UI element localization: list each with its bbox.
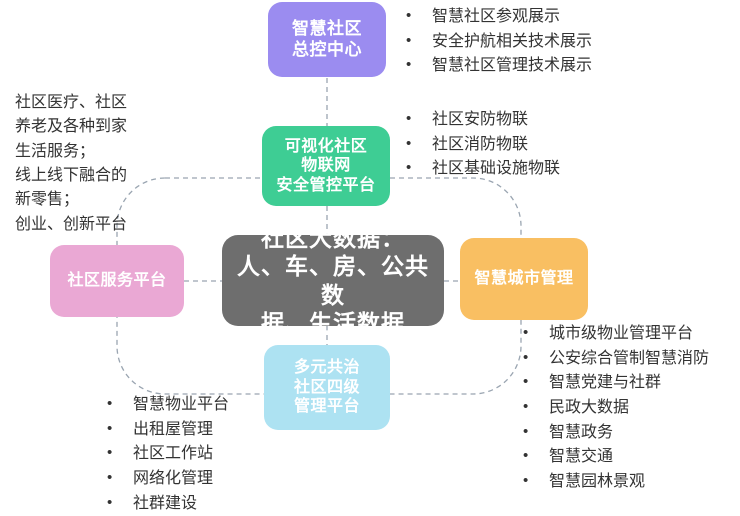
bullet-item: 智慧党建与社群	[521, 371, 709, 396]
service-platform-description: 社区医疗、社区 养老及各种到家 生活服务； 线上线下融合的 新零售； 创业、创新…	[15, 91, 127, 237]
bullet-item: 民政大数据	[521, 396, 709, 421]
bullet-list-city: 城市级物业管理平台公安综合管制智慧消防智慧党建与社群民政大数据智慧政务智慧交通智…	[521, 322, 709, 494]
bullet-item: 智慧政务	[521, 421, 709, 446]
bullet-item: 社群建设	[105, 492, 229, 516]
bullet-item: 智慧社区参观展示	[404, 5, 592, 30]
node-smart-community-control-center[interactable]: 智慧社区 总控中心	[268, 2, 386, 77]
bullet-item: 智慧园林景观	[521, 470, 709, 495]
bullet-item: 智慧交通	[521, 445, 709, 470]
bullet-item: 社区工作站	[105, 442, 229, 467]
bullet-list-property-items: 智慧物业平台出租屋管理社区工作站网络化管理社群建设	[105, 393, 229, 516]
bullet-item: 公安综合管制智慧消防	[521, 347, 709, 372]
bullet-list-iot: 社区安防物联社区消防物联社区基础设施物联	[404, 108, 560, 182]
node-smart-city-management[interactable]: 智慧城市管理	[460, 238, 588, 320]
bullet-item: 安全护航相关技术展示	[404, 30, 592, 55]
bullet-item: 智慧物业平台	[105, 393, 229, 418]
bullet-item: 城市级物业管理平台	[521, 322, 709, 347]
node-four-level-governance-platform[interactable]: 多元共治 社区四级 管理平台	[264, 345, 390, 430]
bullet-list-control-center-items: 智慧社区参观展示安全护航相关技术展示智慧社区管理技术展示	[404, 5, 592, 79]
bullet-list-property: 智慧物业平台出租屋管理社区工作站网络化管理社群建设	[105, 393, 229, 516]
bullet-list-control-center: 智慧社区参观展示安全护航相关技术展示智慧社区管理技术展示	[404, 5, 592, 79]
bullet-item: 网络化管理	[105, 467, 229, 492]
bullet-item: 出租屋管理	[105, 418, 229, 443]
bullet-item: 社区基础设施物联	[404, 157, 560, 182]
bullet-item: 社区消防物联	[404, 133, 560, 158]
bullet-list-iot-items: 社区安防物联社区消防物联社区基础设施物联	[404, 108, 560, 182]
node-visual-community-iot-platform[interactable]: 可视化社区 物联网 安全管控平台	[262, 126, 390, 206]
node-community-big-data[interactable]: 社区大数据： 人、车、房、公共数 据、生活数据	[222, 235, 444, 326]
bullet-item: 智慧社区管理技术展示	[404, 54, 592, 79]
node-community-service-platform[interactable]: 社区服务平台	[50, 245, 184, 317]
bullet-list-city-items: 城市级物业管理平台公安综合管制智慧消防智慧党建与社群民政大数据智慧政务智慧交通智…	[521, 322, 709, 494]
bullet-item: 社区安防物联	[404, 108, 560, 133]
diagram-canvas: 社区大数据： 人、车、房、公共数 据、生活数据 智慧社区 总控中心 可视化社区 …	[0, 0, 740, 512]
